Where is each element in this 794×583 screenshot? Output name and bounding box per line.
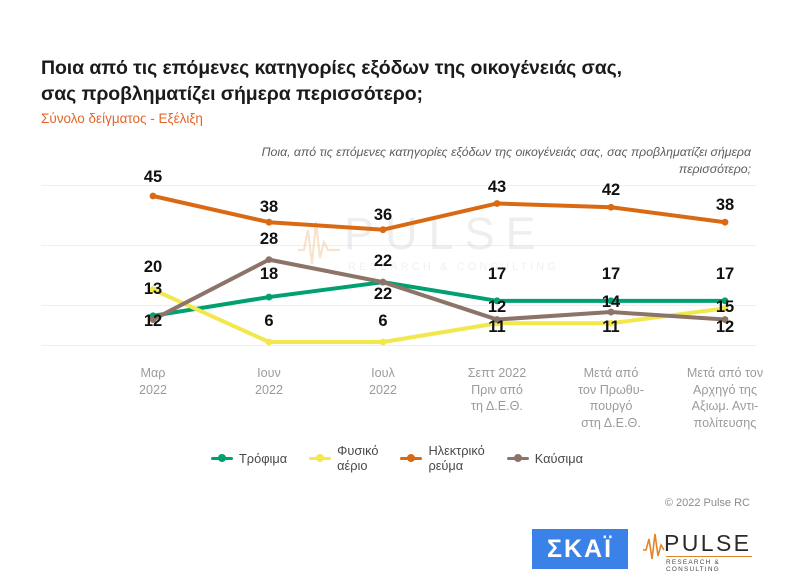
legend-label: Καύσιμα [535,451,583,466]
data-label: 20 [144,258,162,277]
data-point [608,204,615,211]
legend-item[interactable]: Καύσιμα [507,451,583,466]
header: Ποια από τις επόμενες κατηγορίες εξόδων … [41,55,741,127]
data-point [150,193,157,200]
page-subtitle: Σύνολο δείγματος - Εξέλιξη [41,110,741,127]
data-label: 18 [260,265,278,284]
copyright-text: © 2022 Pulse RC [665,497,750,509]
legend-label: Ηλεκτρικό ρεύμα [428,443,484,473]
data-label: 36 [374,206,392,225]
data-point [266,219,273,226]
pulse-logo: PULSE RESEARCH & CONSULTING [642,528,754,570]
skai-logo: ΣΚΑΪ [532,529,628,569]
x-axis-tick-label: Μετά από τονΑρχηγό τηςΑξιωμ. Αντι-πολίτε… [660,365,790,431]
skai-logo-text: ΣΚΑΪ [547,535,613,564]
legend-item[interactable]: Φυσικό αέριο [309,443,378,473]
data-label: 6 [378,312,387,331]
data-label: 45 [144,168,162,187]
pulse-logo-rule [666,556,752,557]
x-axis-tick-label: Μαρ2022 [88,365,218,398]
data-label: 14 [602,293,620,312]
data-label: 11 [488,318,505,337]
data-point [722,219,729,226]
data-point [380,339,387,346]
data-point [494,200,501,207]
x-axis-tick-label: Σεπτ 2022Πριν απότη Δ.Ε.Θ. [432,365,562,415]
data-label: 17 [716,265,734,284]
poster-root: Ποια από τις επόμενες κατηγορίες εξόδων … [0,0,794,583]
data-label: 22 [374,252,392,271]
legend-marker-icon [309,453,331,463]
x-axis-tick-label: Μετά απότον Πρωθυ-πουργόστη Δ.Ε.Θ. [546,365,676,431]
data-label: 17 [602,265,620,284]
page-title-line-2: σας προβληματίζει σήμερα περισσότερο; [41,81,741,107]
x-axis-tick-label: Ιουν2022 [204,365,334,398]
legend-label: Τρόφιμα [239,451,287,466]
series-line [153,196,725,230]
footer-logos: ΣΚΑΪ PULSE RESEARCH & CONSULTING [532,528,754,570]
data-label: 38 [716,196,734,215]
data-label: 15 [716,298,734,317]
data-label: 43 [488,178,506,197]
data-label: 13 [144,280,162,299]
data-label: 12 [144,312,162,331]
chart-legend: ΤρόφιμαΦυσικό αέριοΗλεκτρικό ρεύμαΚαύσιμ… [0,443,794,473]
pulse-logo-word: PULSE [664,530,751,557]
data-point [266,294,273,301]
data-label: 22 [374,285,392,304]
data-label: 11 [602,318,619,337]
data-point [266,339,273,346]
data-label: 12 [716,318,734,337]
data-label: 42 [602,181,620,200]
data-point [380,226,387,233]
data-label: 6 [264,312,273,331]
data-label: 28 [260,230,278,249]
legend-marker-icon [400,453,422,463]
legend-label: Φυσικό αέριο [337,443,378,473]
legend-marker-icon [211,453,233,463]
data-point [266,256,273,263]
legend-item[interactable]: Ηλεκτρικό ρεύμα [400,443,484,473]
pulse-logo-tagline: RESEARCH & CONSULTING [666,559,754,573]
x-axis-tick-label: Ιουλ2022 [318,365,448,398]
data-label: 38 [260,198,278,217]
legend-marker-icon [507,453,529,463]
x-axis: Μαρ2022Ιουν2022Ιουλ2022Σεπτ 2022Πριν από… [41,365,756,435]
page-title-line-1: Ποια από τις επόμενες κατηγορίες εξόδων … [41,55,741,81]
legend-item[interactable]: Τρόφιμα [211,451,287,466]
data-label: 17 [488,265,506,284]
pulse-wave-icon [642,532,666,564]
data-label: 12 [488,298,506,317]
